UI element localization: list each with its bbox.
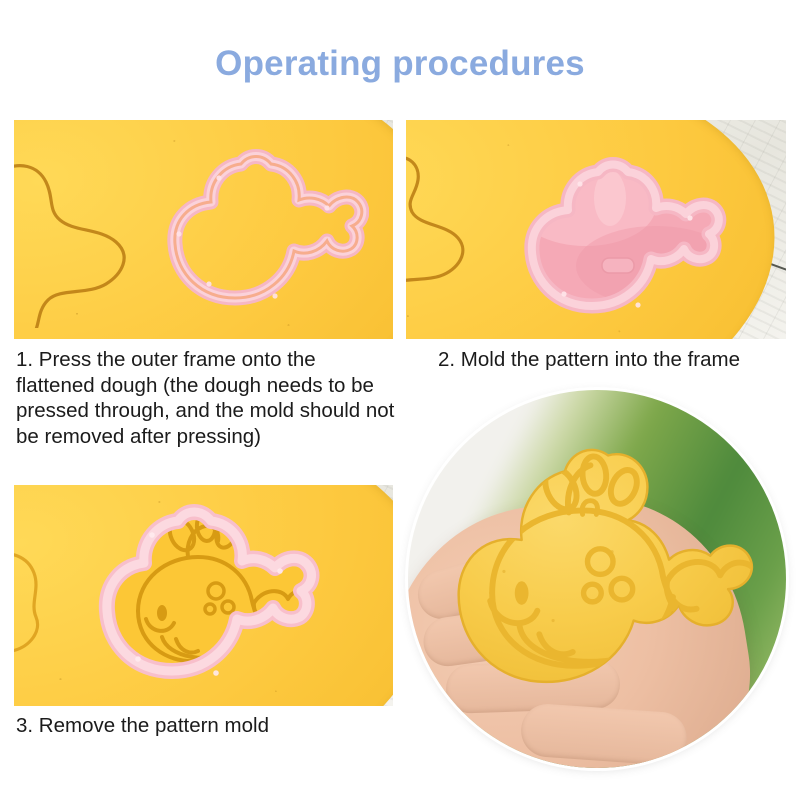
step-3-photo — [14, 485, 393, 706]
step-2-caption: 2. Mold the pattern into the frame — [438, 347, 788, 373]
step-2-photo — [406, 120, 786, 339]
embossed-whale-in-frame — [76, 491, 326, 706]
page-title: Operating procedures — [0, 44, 800, 84]
finished-whale-cookie — [431, 424, 764, 719]
hero-result-photo — [408, 390, 786, 768]
step-1-caption: 1. Press the outer frame onto the flatte… — [16, 347, 396, 449]
whale-cutter-with-stamper — [506, 146, 731, 336]
step-1-photo — [14, 120, 393, 339]
step-3-caption: 3. Remove the pattern mold — [16, 713, 396, 739]
operating-procedures-infographic: Operating procedures — [0, 0, 800, 800]
whale-cutter-frame — [149, 138, 369, 328]
